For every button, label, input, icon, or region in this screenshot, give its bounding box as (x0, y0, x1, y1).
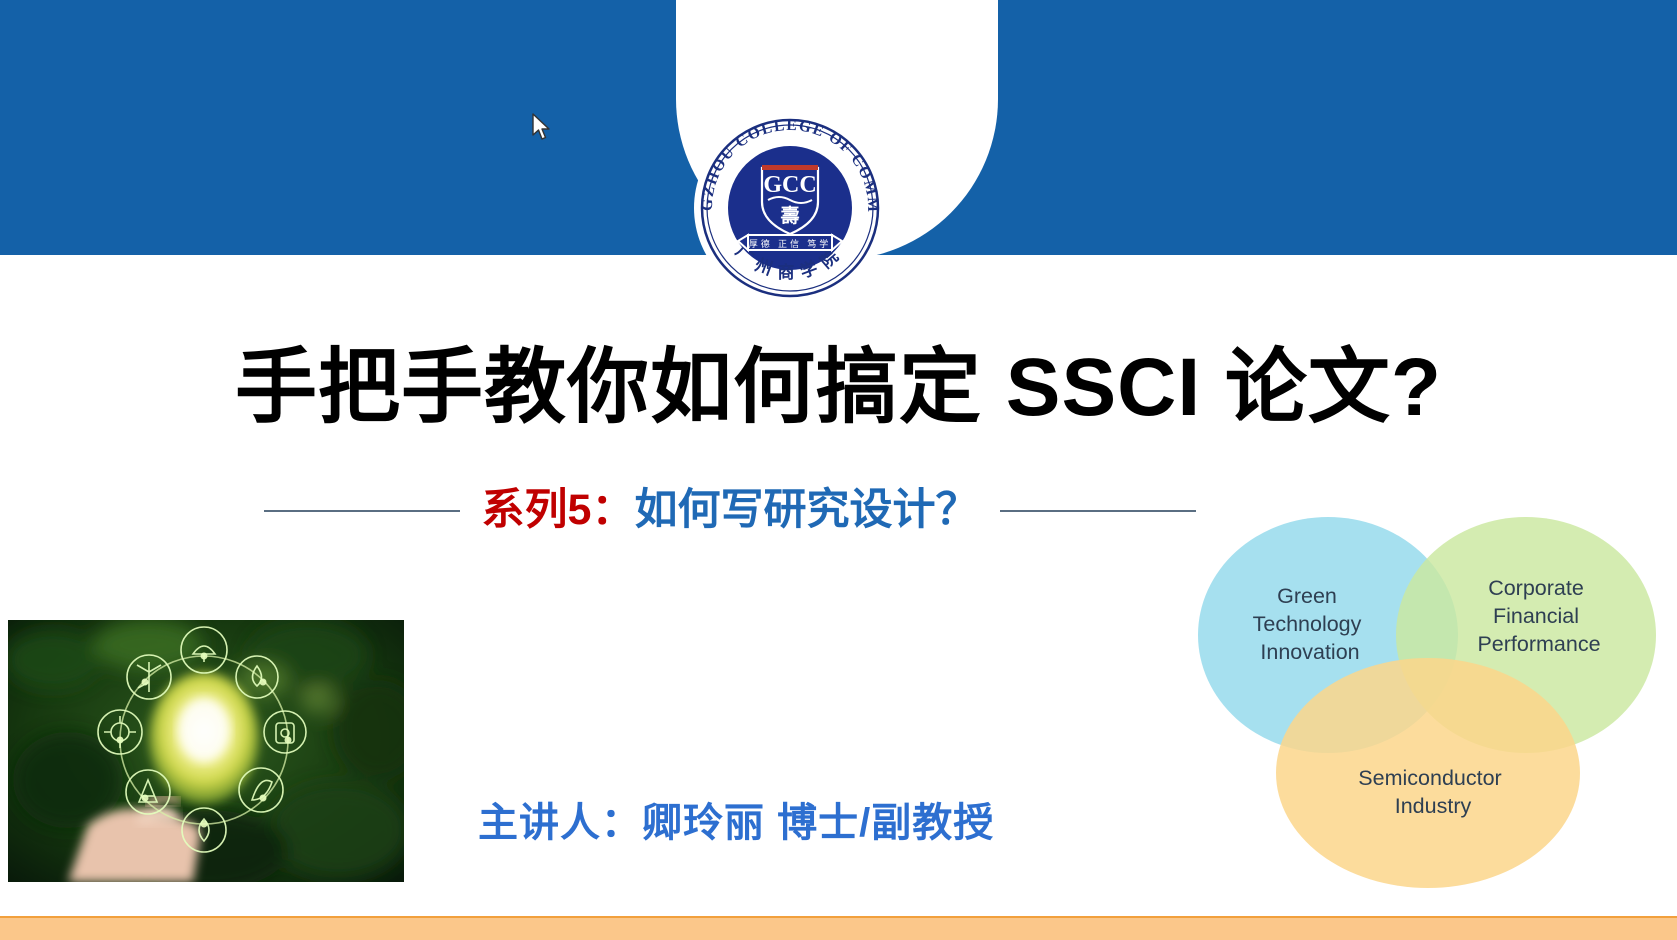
venn-label-corporate-finance: Corporate Financial Performance (1477, 576, 1600, 656)
svg-text:壽: 壽 (780, 204, 799, 227)
gcc-seal-logo: GUANGZHOU COLLEGE OF COMMERCE 广州商学院 GCC … (692, 110, 888, 306)
venn-label-line: Performance (1477, 632, 1600, 656)
svg-text:GCC: GCC (763, 172, 816, 198)
footer-accent-bar (0, 916, 1677, 940)
decorative-line-left (264, 510, 460, 512)
venn-diagram: Green Technology Innovation Corporate Fi… (1170, 495, 1677, 895)
svg-text:厚德 正信 笃学: 厚德 正信 笃学 (749, 238, 832, 249)
venn-label-line: Industry (1395, 794, 1472, 818)
venn-label-line: Green (1277, 584, 1337, 608)
venn-label-line: Innovation (1260, 640, 1359, 664)
venn-label-line: Corporate (1488, 576, 1584, 600)
venn-label-line: Technology (1253, 612, 1362, 636)
presenter-line: 主讲人：卿玲丽 博士/副教授 (478, 790, 994, 848)
subtitle-series-label: 系列5： (482, 486, 635, 534)
decorative-line-right (1000, 510, 1196, 512)
venn-label-line: Semiconductor (1358, 766, 1501, 790)
venn-label-line: Financial (1493, 604, 1579, 628)
presentation-slide: GUANGZHOU COLLEGE OF COMMERCE 广州商学院 GCC … (0, 0, 1677, 940)
subtitle: 系列5：如何写研究设计？ (482, 485, 979, 537)
green-innovation-photo (8, 620, 404, 882)
page-title: 手把手教你如何搞定 SSCI 论文? (0, 345, 1677, 431)
subtitle-topic-label: 如何写研究设计？ (634, 486, 978, 534)
